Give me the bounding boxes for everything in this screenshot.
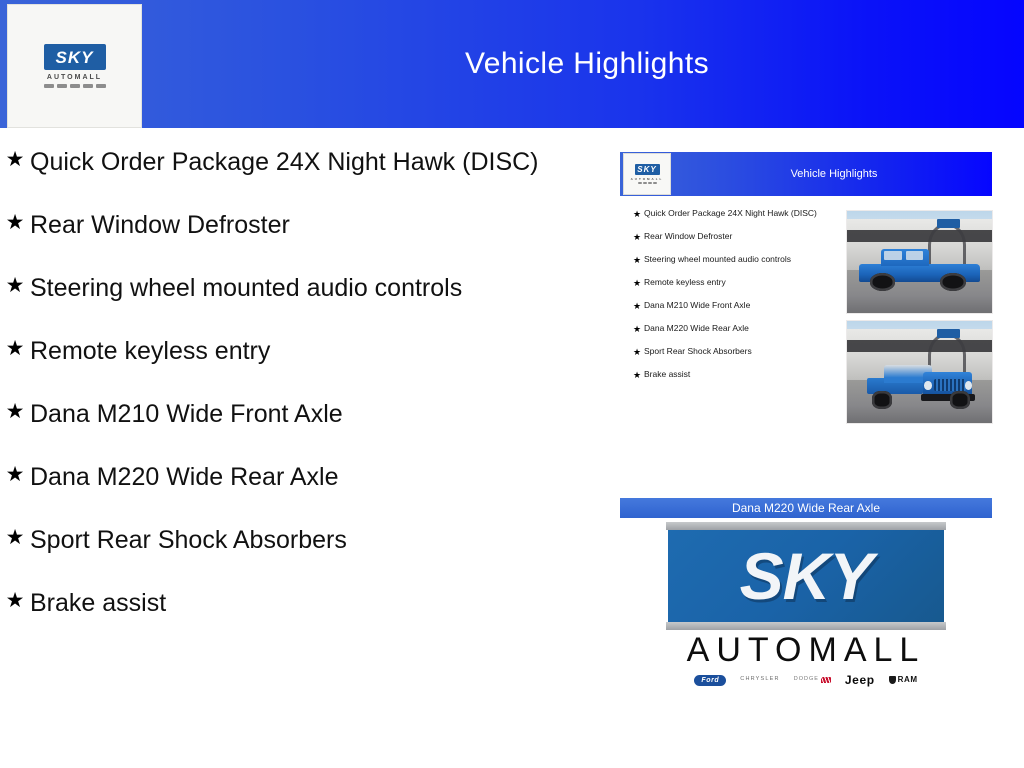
page-title: Vehicle Highlights	[150, 0, 1024, 128]
truck-wheel	[950, 391, 970, 409]
sky-logo-brand-badges	[44, 84, 106, 88]
brand-logo-row: Ford CHRYSLER DODGE Jeep RAM	[694, 674, 917, 686]
thumbnail-logo-box: SKY AUTOMALL	[624, 154, 670, 194]
sky-logo-plate: SKY	[635, 164, 660, 175]
list-item-label: Rear Window Defroster	[644, 231, 732, 242]
slide-header-band: Vehicle Highlights	[0, 0, 1024, 128]
ford-logo-icon: Ford	[694, 675, 726, 686]
star-icon: ★	[0, 523, 30, 553]
brand-badge-icon	[70, 84, 80, 88]
list-item: ★ Steering wheel mounted audio controls	[0, 271, 600, 306]
truck-wheel	[940, 273, 966, 290]
header-logo-box: SKY AUTOMALL	[8, 5, 141, 127]
sky-automall-logo-icon: SKY AUTOMALL	[631, 164, 664, 184]
star-icon: ★	[0, 334, 30, 364]
list-item-label: Brake assist	[30, 586, 166, 621]
list-item: ★ Dana M220 Wide Rear Axle	[0, 460, 600, 495]
image-caption-bar: Dana M220 Wide Rear Axle	[620, 498, 992, 518]
brand-badge-icon	[96, 84, 106, 88]
jeep-grille-icon	[934, 379, 966, 391]
brand-badge-icon	[643, 182, 647, 184]
list-item-label: Dana M220 Wide Rear Axle	[30, 460, 338, 495]
list-item-label: Remote keyless entry	[644, 277, 726, 288]
truck-wheel	[872, 391, 892, 409]
dodge-stripes-icon	[821, 677, 831, 683]
sign-trim-top	[666, 522, 946, 530]
brand-badge-icon	[57, 84, 67, 88]
sky-logo-plate: SKY	[44, 44, 106, 70]
star-icon: ★	[630, 277, 644, 290]
star-icon: ★	[0, 586, 30, 616]
dealership-sign-icon	[937, 329, 960, 338]
ram-shield-icon	[889, 676, 896, 684]
list-item-label: Steering wheel mounted audio controls	[644, 254, 791, 265]
brand-badge-icon	[44, 84, 54, 88]
list-item: ★ Quick Order Package 24X Night Hawk (DI…	[630, 208, 842, 221]
vehicle-photo-side-profile[interactable]	[846, 210, 993, 314]
automall-wordmark: AUTOMALL	[687, 633, 926, 667]
list-item: ★ Steering wheel mounted audio controls	[630, 254, 842, 267]
list-item-label: Quick Order Package 24X Night Hawk (DISC…	[30, 145, 539, 180]
sign-face: SKY	[668, 530, 944, 622]
list-item-label: Remote keyless entry	[30, 334, 270, 369]
truck-headlight	[924, 381, 932, 390]
list-item: ★ Sport Rear Shock Absorbers	[630, 346, 842, 359]
star-icon: ★	[0, 271, 30, 301]
truck-wheel	[870, 273, 896, 290]
vehicle-photo-front-three-quarter[interactable]	[846, 320, 993, 424]
list-item-label: Rear Window Defroster	[30, 208, 290, 243]
list-item-label: Dana M210 Wide Front Axle	[644, 300, 750, 311]
ram-label: RAM	[898, 676, 918, 684]
truck-window	[884, 251, 902, 260]
jeep-gladiator-icon	[859, 250, 981, 291]
list-item: ★ Quick Order Package 24X Night Hawk (DI…	[0, 145, 600, 180]
list-item-label: Sport Rear Shock Absorbers	[30, 523, 347, 558]
sign-trim-bottom	[666, 622, 946, 630]
star-icon: ★	[0, 208, 30, 238]
slide-thumbnail-preview[interactable]: Vehicle Highlights SKY AUTOMALL ★ Quick …	[620, 152, 992, 430]
star-icon: ★	[630, 231, 644, 244]
brand-badge-icon	[648, 182, 652, 184]
brand-badge-icon	[83, 84, 93, 88]
star-icon: ★	[630, 254, 644, 267]
sky-logo-brand-badges	[638, 182, 657, 184]
list-item: ★ Remote keyless entry	[630, 277, 842, 290]
building-window-band	[847, 230, 992, 241]
dealership-scene	[847, 321, 992, 423]
list-item: ★ Dana M210 Wide Front Axle	[0, 397, 600, 432]
star-icon: ★	[630, 208, 644, 221]
jeep-logo-icon: Jeep	[845, 674, 875, 686]
list-item-label: Steering wheel mounted audio controls	[30, 271, 462, 306]
brand-badge-icon	[653, 182, 657, 184]
star-icon: ★	[0, 397, 30, 427]
list-item-label: Sport Rear Shock Absorbers	[644, 346, 752, 357]
star-icon: ★	[0, 145, 30, 175]
dealership-sign-icon	[937, 219, 960, 228]
ram-logo-icon: RAM	[889, 676, 918, 684]
star-icon: ★	[0, 460, 30, 490]
list-item-label: Dana M220 Wide Rear Axle	[644, 323, 749, 334]
chrysler-logo-icon: CHRYSLER	[740, 677, 779, 683]
sky-automall-logo-icon: SKY AUTOMALL	[44, 44, 106, 88]
thumbnail-title: Vehicle Highlights	[676, 152, 992, 196]
jeep-gladiator-icon	[867, 354, 974, 409]
dodge-label: DODGE	[794, 677, 819, 683]
sky-sign-graphic: SKY	[666, 522, 946, 630]
list-item: ★ Dana M220 Wide Rear Axle	[630, 323, 842, 336]
sky-wordmark: SKY	[740, 543, 873, 609]
list-item: ★ Brake assist	[0, 586, 600, 621]
star-icon: ★	[630, 323, 644, 336]
thumbnail-header-band: Vehicle Highlights	[620, 152, 992, 196]
thumbnail-highlights-list: ★ Quick Order Package 24X Night Hawk (DI…	[630, 208, 842, 392]
star-icon: ★	[630, 369, 644, 382]
building-window-band	[847, 340, 992, 351]
list-item: ★ Dana M210 Wide Front Axle	[630, 300, 842, 313]
vehicle-highlights-list: ★ Quick Order Package 24X Night Hawk (DI…	[0, 145, 600, 649]
list-item: ★ Sport Rear Shock Absorbers	[0, 523, 600, 558]
sky-logo-wordmark: AUTOMALL	[47, 74, 102, 81]
sky-logo-wordmark: AUTOMALL	[631, 177, 664, 181]
list-item: ★ Brake assist	[630, 369, 842, 382]
truck-window	[906, 251, 924, 260]
list-item: ★ Remote keyless entry	[0, 334, 600, 369]
list-item: ★ Rear Window Defroster	[0, 208, 600, 243]
star-icon: ★	[630, 346, 644, 359]
list-item-label: Brake assist	[644, 369, 690, 380]
dealership-scene	[847, 211, 992, 313]
sky-automall-brand-panel: SKY AUTOMALL Ford CHRYSLER DODGE Jeep RA…	[620, 520, 992, 688]
star-icon: ★	[630, 300, 644, 313]
list-item: ★ Rear Window Defroster	[630, 231, 842, 244]
brand-badge-icon	[638, 182, 642, 184]
truck-cab	[881, 249, 930, 266]
list-item-label: Dana M210 Wide Front Axle	[30, 397, 343, 432]
list-item-label: Quick Order Package 24X Night Hawk (DISC…	[644, 208, 817, 219]
dodge-logo-icon: DODGE	[794, 677, 831, 683]
